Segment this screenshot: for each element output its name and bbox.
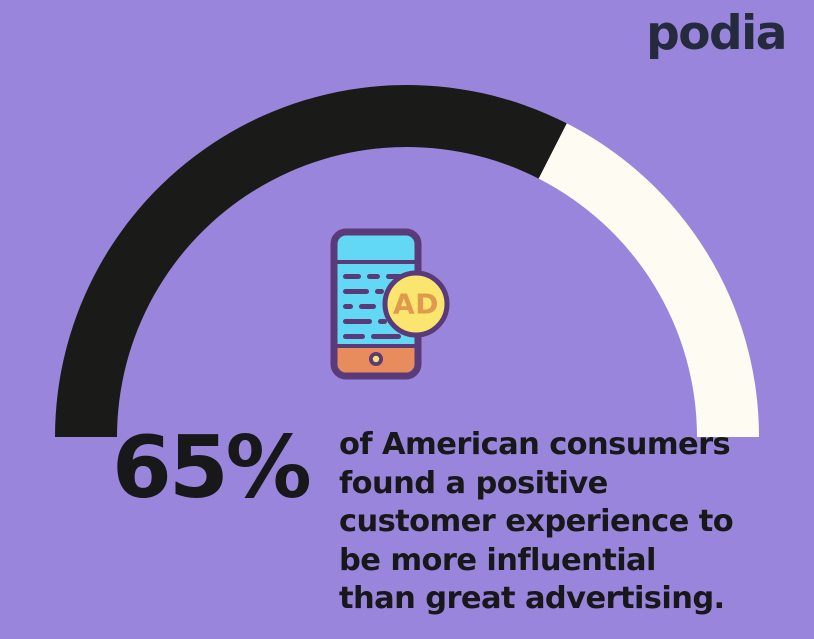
infographic-canvas: podia	[0, 0, 814, 639]
smartphone-ad-icon: AD	[326, 224, 456, 384]
stat-statement-text: of American consumers found a positive c…	[339, 426, 739, 619]
gauge-segment-remainder	[539, 123, 759, 437]
ad-badge-label: AD	[393, 288, 439, 321]
gauge-segment-filled	[55, 85, 567, 437]
stat-percent-value: 65%	[112, 425, 332, 511]
phone-home-button-dot	[373, 356, 379, 362]
